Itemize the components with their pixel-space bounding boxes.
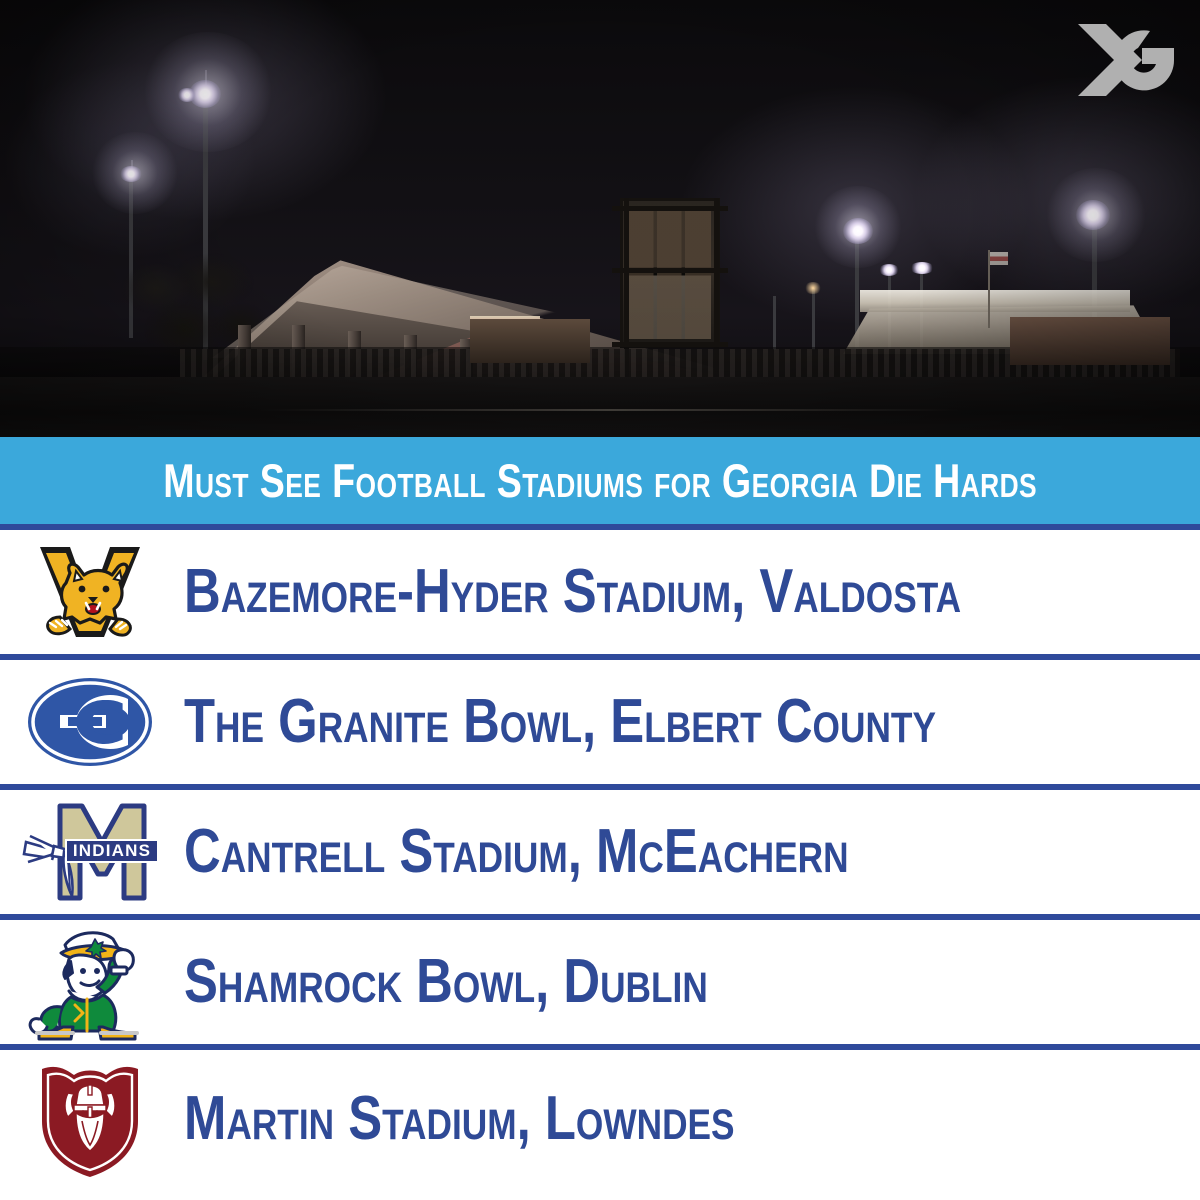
list-item-label: Shamrock Bowl, Dublin (184, 951, 708, 1013)
list-item-label: Cantrell Stadium, McEachern (184, 821, 849, 883)
logo-cell (10, 663, 170, 781)
page-title: Must See Football Stadiums for Georgia D… (163, 457, 1037, 504)
hero-photo (0, 0, 1200, 437)
list-item-label: The Granite Bowl, Elbert County (184, 691, 936, 753)
logo-cell: INDIANS (10, 793, 170, 911)
list-item[interactable]: The Granite Bowl, Elbert County (0, 660, 1200, 790)
lowndes-vikings-shield-logo (34, 1059, 146, 1179)
dublin-fighting-irish-leprechaun-logo (25, 923, 155, 1041)
infographic-card: Must See Football Stadiums for Georgia D… (0, 0, 1200, 1200)
list-item[interactable]: Martin Stadium, Lowndes (0, 1050, 1200, 1187)
list-item[interactable]: Bazemore-Hyder Stadium, Valdosta (0, 530, 1200, 660)
valdosta-wildcats-logo (26, 537, 154, 647)
stadium-list: Bazemore-Hyder Stadium, Valdosta The Gra… (0, 530, 1200, 1187)
photo-vignette (0, 0, 1200, 437)
logo-cell (10, 533, 170, 651)
list-item[interactable]: Shamrock Bowl, Dublin (0, 920, 1200, 1050)
logo-cell (10, 1060, 170, 1178)
list-item-label: Martin Stadium, Lowndes (184, 1088, 735, 1150)
logo-cell (10, 923, 170, 1041)
list-item[interactable]: INDIANS Cantrell Stadium, McEachern (0, 790, 1200, 920)
svg-text:INDIANS: INDIANS (73, 841, 151, 860)
title-banner: Must See Football Stadiums for Georgia D… (0, 437, 1200, 530)
elbert-county-ec-logo (24, 669, 156, 775)
xg-logo-icon (1072, 14, 1182, 106)
mceachern-indians-logo: INDIANS (20, 798, 160, 906)
list-item-label: Bazemore-Hyder Stadium, Valdosta (184, 561, 961, 623)
